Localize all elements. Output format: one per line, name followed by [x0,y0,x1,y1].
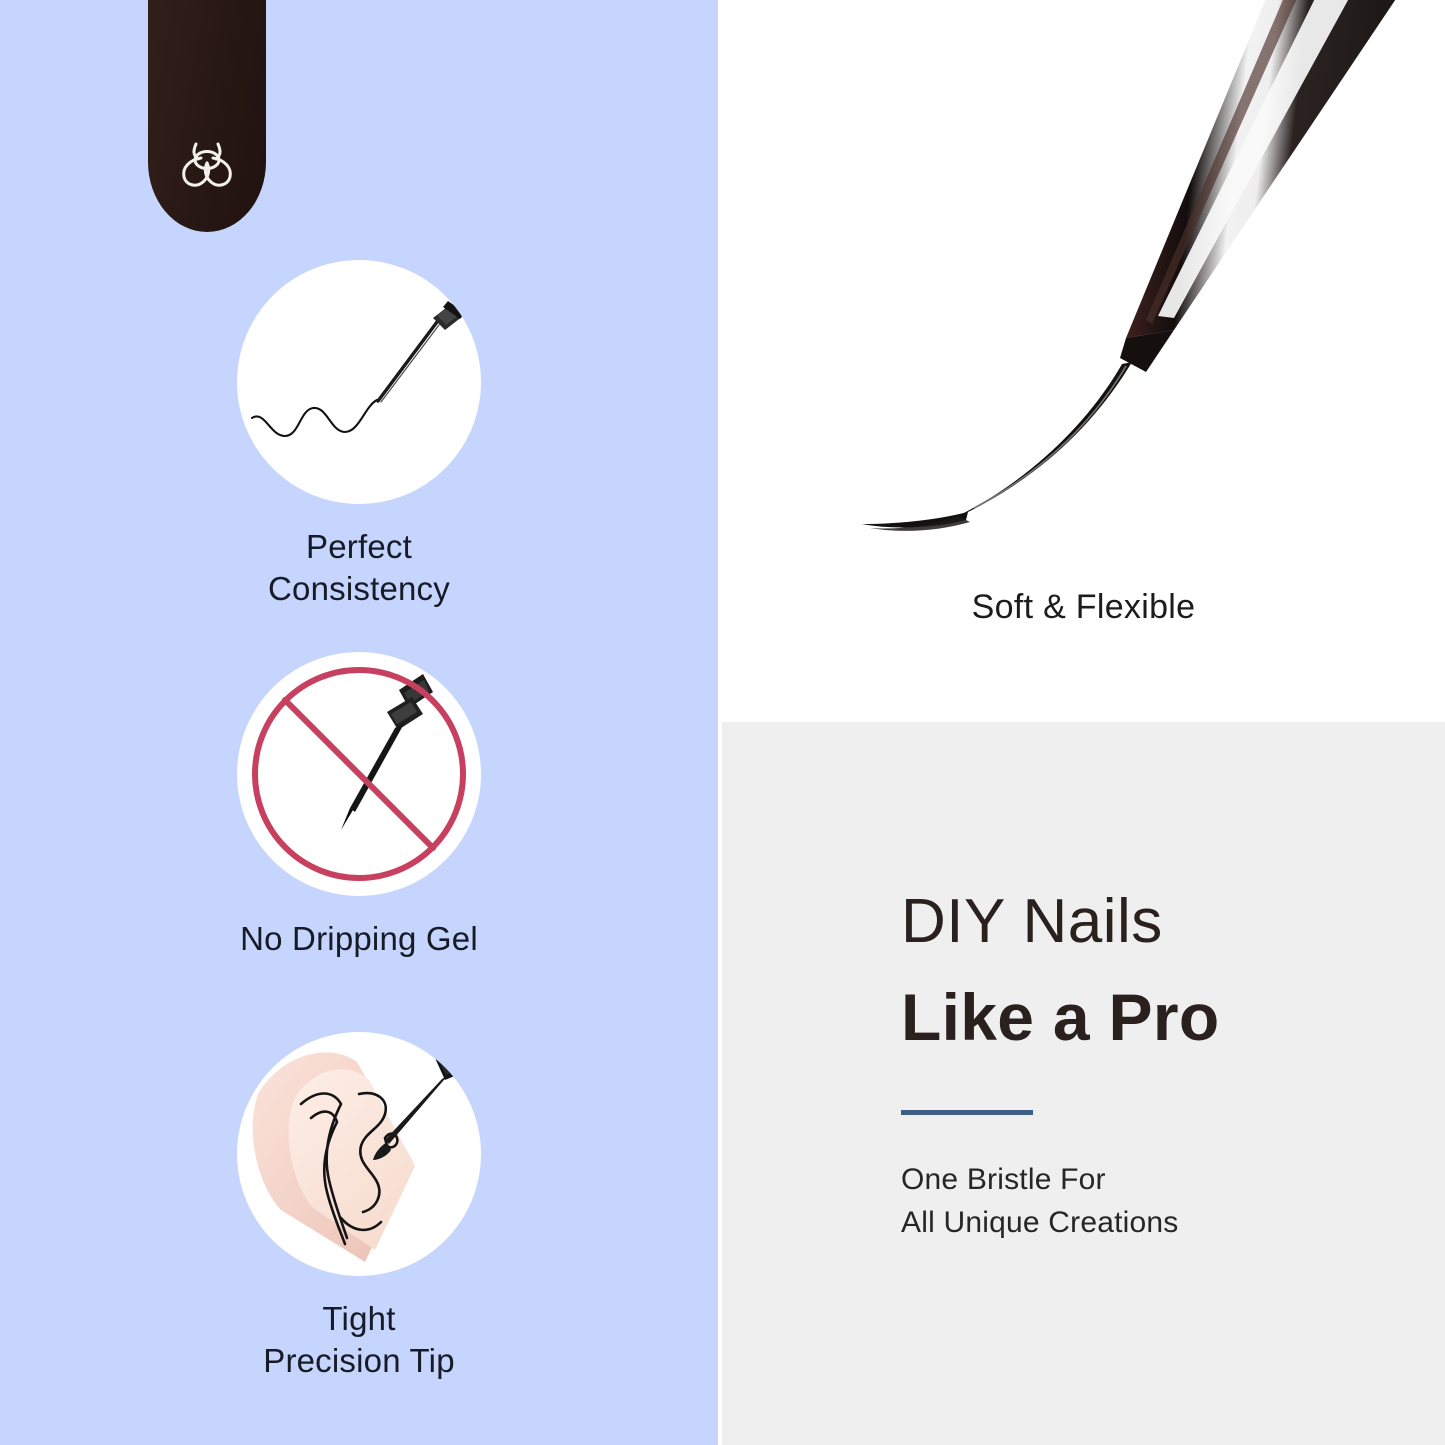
no-dripping-brush-icon [237,652,481,896]
feature-no-dripping-gel: No Dripping Gel [0,652,718,960]
bee-loops-logo-icon [176,134,238,194]
hero-panel: Soft & Flexible [722,0,1445,722]
accent-divider [901,1110,1033,1115]
feature-3-circle [237,1032,481,1276]
feature-3-label: Tight Precision Tip [0,1298,718,1381]
feature-perfect-consistency: Perfect Consistency [0,260,718,609]
hero-caption: Soft & Flexible [722,588,1445,627]
marketing-panel: DIY Nails Like a Pro One Bristle For All… [722,722,1445,1445]
feature-2-label: No Dripping Gel [0,918,718,960]
left-features-panel: Perfect Consistency [0,0,718,1445]
marketing-subline: One Bristle For All Unique Creations [901,1159,1178,1244]
feature-1-circle [237,260,481,504]
flexible-brush-photo [722,0,1445,560]
bottle-cap [148,0,266,232]
feature-tight-precision-tip: Tight Precision Tip [0,1032,718,1381]
product-infographic: Perfect Consistency [0,0,1445,1445]
brush-drawing-wavy-line-icon [237,260,481,504]
feature-1-label: Perfect Consistency [0,526,718,609]
headline-primary: DIY Nails [901,891,1163,953]
headline-secondary: Like a Pro [901,984,1219,1050]
feature-2-circle [237,652,481,896]
nail-art-precision-icon [237,1032,481,1276]
